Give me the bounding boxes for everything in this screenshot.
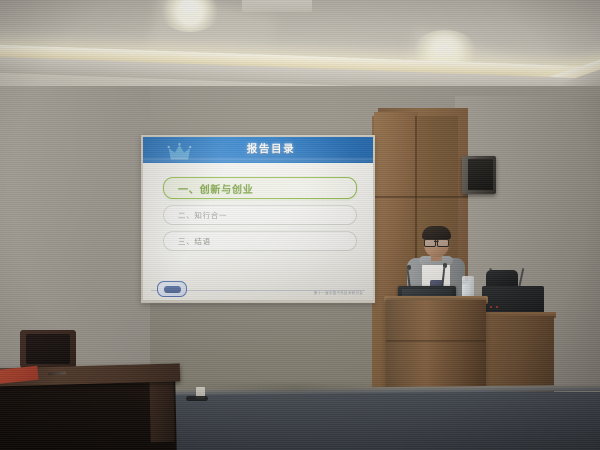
toc-item-2-label: 二、知行合一 (178, 210, 227, 221)
toc-item-3[interactable]: 三、结语 (163, 231, 357, 251)
status-led (496, 306, 498, 308)
presenter-hair (422, 226, 451, 240)
slide-header: 报告目录 (143, 137, 373, 163)
lens-right (437, 239, 449, 247)
speaker-grille (468, 159, 493, 190)
chair-pad (26, 334, 70, 364)
slide-toc-list: 一、创新与创业 二、知行合一 三、结语 (163, 177, 357, 257)
slide-footer: 第十一届中国汽车技术研讨会 (143, 278, 373, 300)
ceiling-vent-panel-icon (242, 0, 312, 12)
slide: 报告目录 一、创新与创业 二、知行合一 三、结语 第十一届中国汽车技术研讨会 (143, 137, 373, 300)
wood-seam (372, 196, 468, 198)
toc-item-1[interactable]: 一、创新与创业 (163, 177, 357, 199)
oval-badge-logo-icon (157, 281, 187, 297)
slide-footer-note: 第十一届中国汽车技术研讨会 (314, 290, 363, 295)
logo-inner (164, 286, 181, 293)
floor-cable (186, 396, 208, 401)
slide-title: 报告目录 (143, 141, 373, 156)
wall-speaker-icon (462, 156, 496, 194)
toc-item-2[interactable]: 二、知行合一 (163, 205, 357, 225)
status-led (490, 306, 492, 308)
wall-scuff (180, 384, 410, 393)
toc-item-1-label: 一、创新与创业 (178, 181, 254, 196)
podium-seam (386, 340, 486, 342)
photo-scene: 报告目录 一、创新与创业 二、知行合一 三、结语 第十一届中国汽车技术研讨会 (0, 0, 600, 450)
podium-shading (386, 300, 486, 396)
projection-screen: 报告目录 一、创新与创业 二、知行合一 三、结语 第十一届中国汽车技术研讨会 (143, 137, 373, 300)
downlight-core (180, 0, 199, 13)
downlight-core (434, 44, 454, 58)
glasses-icon (424, 239, 449, 245)
toc-item-3-label: 三、结语 (178, 236, 211, 247)
